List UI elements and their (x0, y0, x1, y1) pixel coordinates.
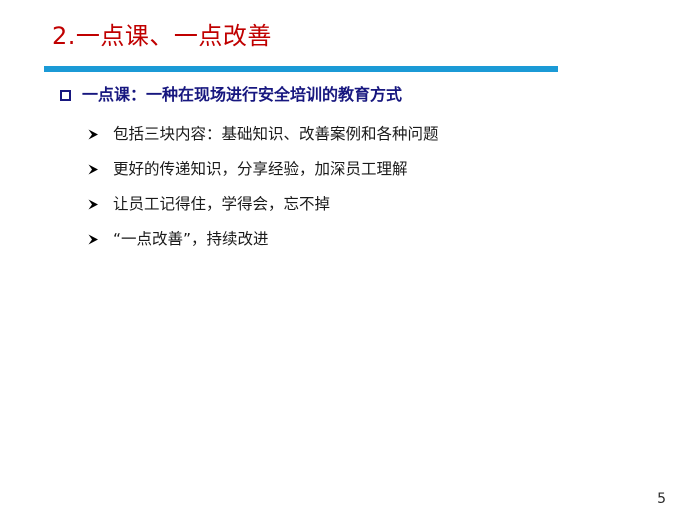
bullet-list: 包括三块内容：基础知识、改善案例和各种问题 更好的传递知识，分享经验，加深员工理… (88, 122, 648, 262)
list-item: 包括三块内容：基础知识、改善案例和各种问题 (88, 122, 648, 146)
heading-bullet-row: 一点课：一种在现场进行安全培训的教育方式 (60, 84, 402, 106)
list-item-label: 让员工记得住，学得会，忘不掉 (113, 192, 330, 216)
list-item-label: “一点改善”，持续改进 (113, 227, 269, 251)
arrowhead-bullet-icon (88, 227, 102, 245)
list-item: 更好的传递知识，分享经验，加深员工理解 (88, 157, 648, 181)
list-item: 让员工记得住，学得会，忘不掉 (88, 192, 648, 216)
list-item-label: 包括三块内容：基础知识、改善案例和各种问题 (113, 122, 439, 146)
heading-text: 一点课：一种在现场进行安全培训的教育方式 (82, 84, 402, 106)
arrowhead-bullet-icon (88, 122, 102, 140)
page-title: 2.一点课、一点改善 (52, 22, 272, 51)
list-item: “一点改善”，持续改进 (88, 227, 648, 251)
title-divider (44, 66, 558, 72)
page-number: 5 (657, 491, 666, 507)
slide-canvas: 2.一点课、一点改善 一点课：一种在现场进行安全培训的教育方式 包括三块内容：基… (0, 0, 700, 525)
square-outline-bullet-icon (60, 90, 71, 101)
arrowhead-bullet-icon (88, 192, 102, 210)
arrowhead-bullet-icon (88, 157, 102, 175)
list-item-label: 更好的传递知识，分享经验，加深员工理解 (113, 157, 408, 181)
